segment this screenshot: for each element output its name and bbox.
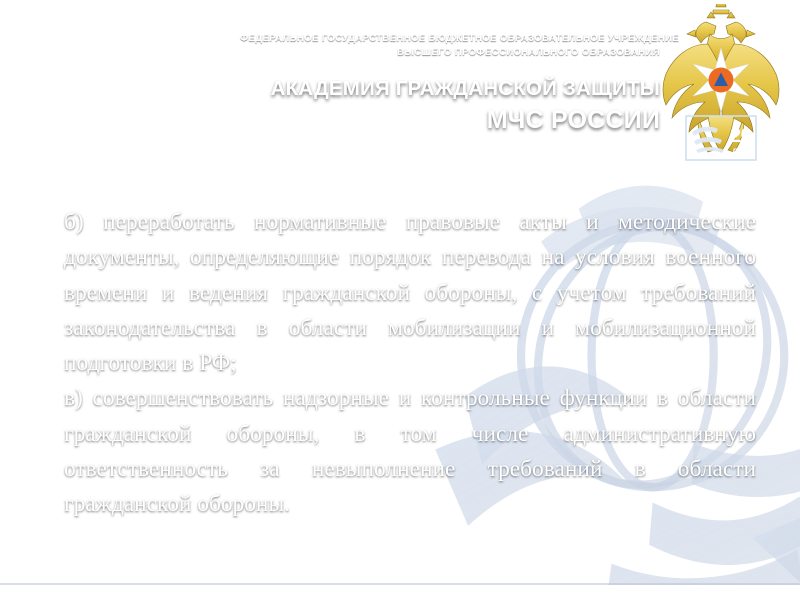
svg-text:лет: лет bbox=[732, 146, 749, 157]
org-line-2: ВЫСШЕГО ПРОФЕССИОНАЛЬНОГО ОБРАЗОВАНИЯ bbox=[240, 46, 660, 60]
svg-text:1992-2012: 1992-2012 bbox=[689, 186, 753, 196]
paragraph-b: б) переработать нормативные правовые акт… bbox=[64, 205, 756, 381]
academy-title-line-1: АКАДЕМИЯ ГРАЖДАНСКОЙ ЗАЩИТЫ bbox=[240, 77, 660, 101]
slide-body-text: б) переработать нормативные правовые акт… bbox=[64, 205, 756, 523]
anniversary-badge: 20 лет bbox=[730, 125, 752, 157]
institution-titles: ФЕДЕРАЛЬНОЕ ГОСУДАРСТВЕННОЕ БЮДЖЕТНОЕ ОБ… bbox=[240, 32, 660, 135]
org-line-1: ФЕДЕРАЛЬНОЕ ГОСУДАРСТВЕННОЕ БЮДЖЕТНОЕ ОБ… bbox=[240, 32, 660, 46]
academy-title-line-2: МЧС РОССИИ bbox=[240, 106, 660, 135]
slide-header: ФЕДЕРАЛЬНОЕ ГОСУДАРСТВЕННОЕ БЮДЖЕТНОЕ ОБ… bbox=[0, 0, 800, 200]
paragraph-v: в) совершенствовать надзорные и контроль… bbox=[64, 381, 756, 522]
svg-text:20: 20 bbox=[730, 125, 752, 147]
presentation-slide: ФЕДЕРАЛЬНОЕ ГОСУДАРСТВЕННОЕ БЮДЖЕТНОЕ ОБ… bbox=[0, 0, 800, 585]
academy-emblem: 20 лет АКАДЕМИЯ ГРАЖДАНСКОЙ ЗАЩИТЫ МЧС Р… bbox=[650, 4, 792, 196]
